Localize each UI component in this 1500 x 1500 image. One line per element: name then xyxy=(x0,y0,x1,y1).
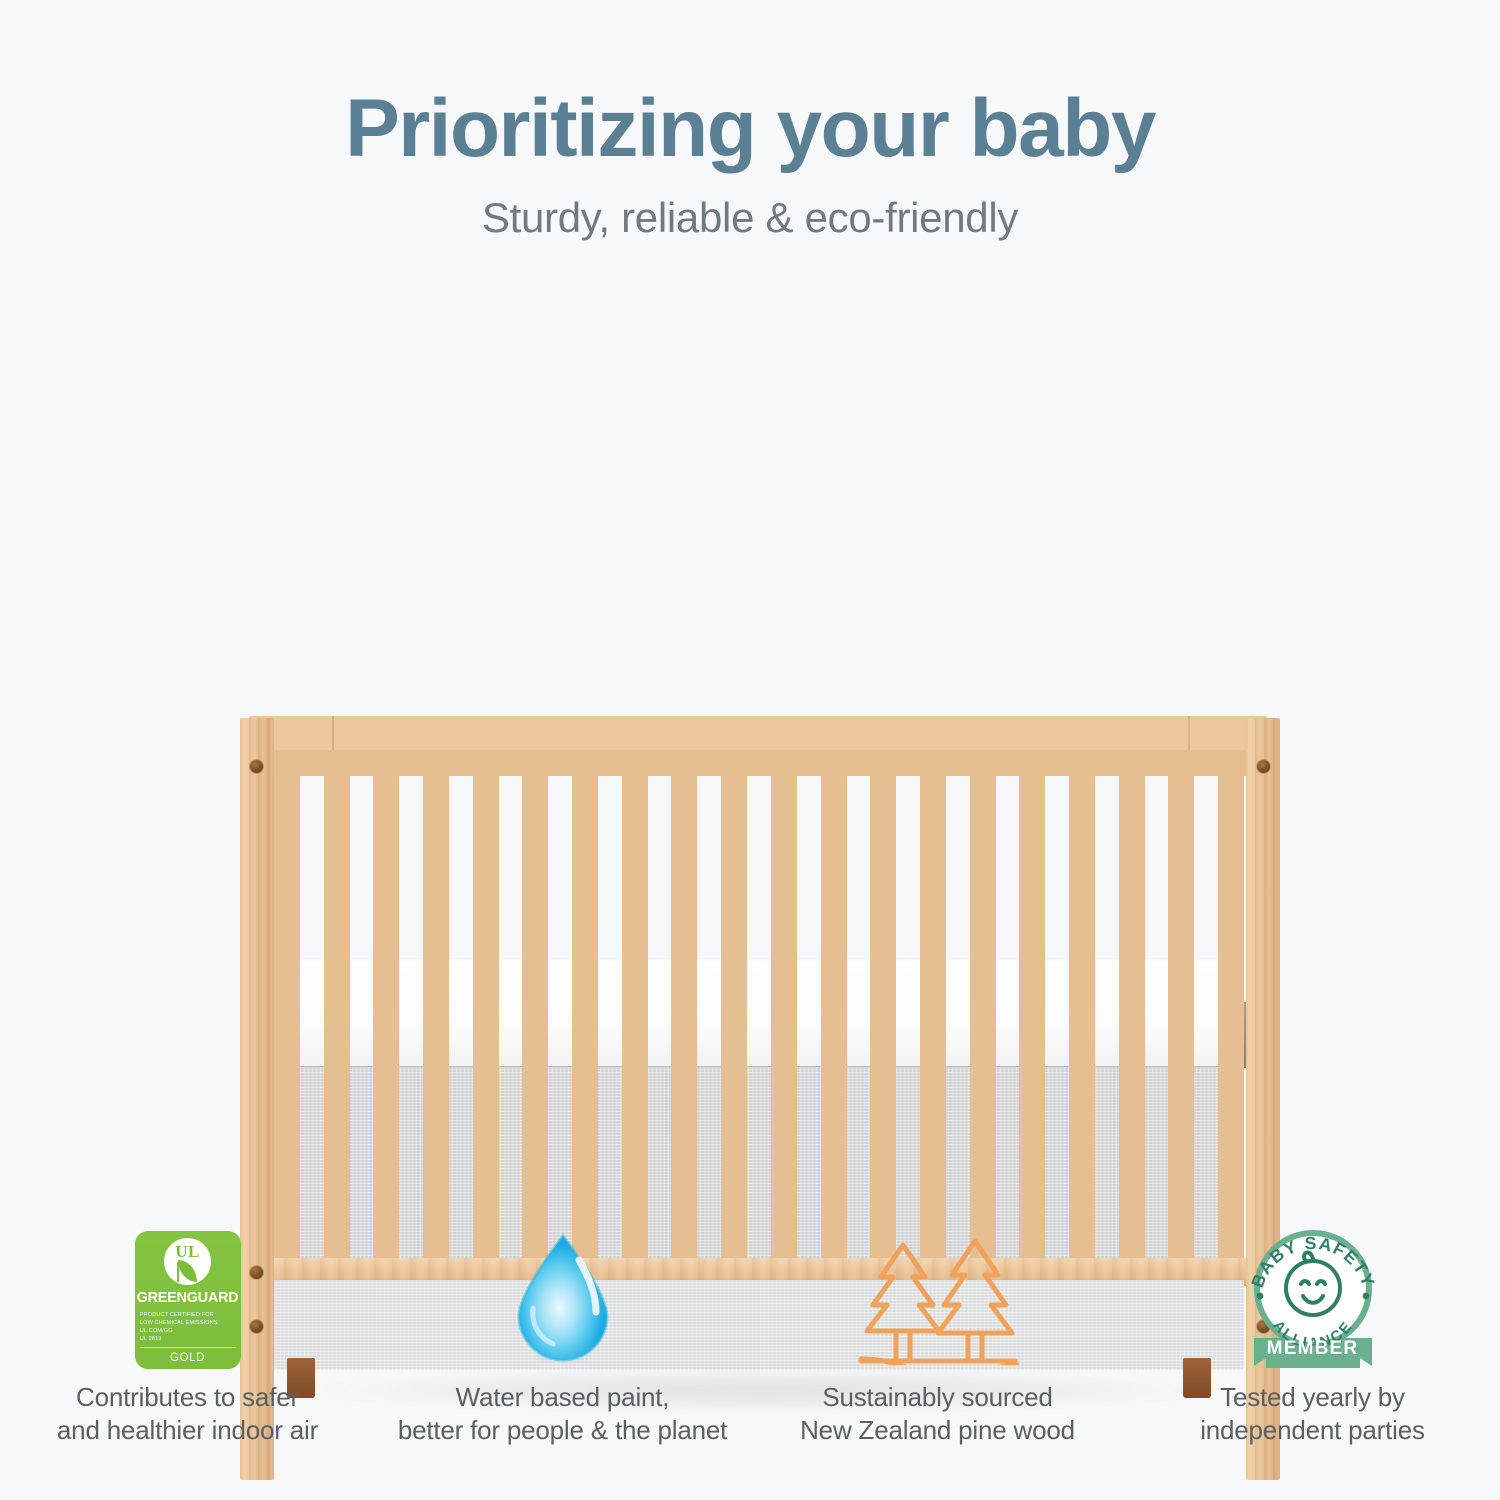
feature-independent-testing: BABY SAFETY ALLIANCE MEMBER Tested yearl… xyxy=(1125,1225,1500,1485)
feature-caption: Tested yearly by independent parties xyxy=(1200,1381,1425,1447)
crib-slat xyxy=(671,775,697,1267)
crib-slat xyxy=(572,775,598,1267)
seal-ribbon-label: MEMBER xyxy=(1238,1338,1388,1360)
crib-slat xyxy=(1218,775,1244,1267)
pine-trees-icon xyxy=(853,1225,1023,1375)
crib-slat xyxy=(522,775,548,1267)
greenguard-level: GOLD xyxy=(170,1352,205,1364)
greenguard-gold-certification-icon: UL GREENGUARD PRODUCT CERTIFIED FOR LOW … xyxy=(135,1225,241,1375)
water-drop-icon xyxy=(503,1225,623,1375)
crib-slat xyxy=(721,775,747,1267)
feature-sustainable-wood: Sustainably sourced New Zealand pine woo… xyxy=(750,1225,1125,1485)
badge-divider xyxy=(140,1347,236,1348)
feature-greenguard: UL GREENGUARD PRODUCT CERTIFIED FOR LOW … xyxy=(0,1225,375,1485)
crib-mattress xyxy=(272,958,1244,1070)
crib-slat xyxy=(274,775,300,1267)
crib-slat xyxy=(622,775,648,1267)
crib-slat xyxy=(423,775,449,1267)
crib-slat xyxy=(1069,775,1095,1267)
crib-slat xyxy=(870,775,896,1267)
rail-seam-right xyxy=(1188,716,1190,750)
crib-slat xyxy=(1119,775,1145,1267)
crib-slat xyxy=(1019,775,1045,1267)
crib-top-rail-band xyxy=(248,750,1268,776)
crib-slat xyxy=(970,775,996,1267)
feature-row: UL GREENGUARD PRODUCT CERTIFIED FOR LOW … xyxy=(0,1225,1500,1485)
crib-slat xyxy=(373,775,399,1267)
page-subtitle: Sturdy, reliable & eco-friendly xyxy=(0,194,1500,242)
rail-seam-left xyxy=(332,716,334,750)
feature-caption: Contributes to safer and healthier indoo… xyxy=(57,1381,318,1447)
crib-slat xyxy=(1168,775,1194,1267)
baby-safety-alliance-seal-icon: BABY SAFETY ALLIANCE MEMBER xyxy=(1238,1225,1388,1375)
crib-top-rail-cap xyxy=(248,716,1268,750)
crib-slat xyxy=(821,775,847,1267)
feature-water-based-paint: Water based paint, better for people & t… xyxy=(375,1225,750,1485)
product-image xyxy=(0,350,1500,1170)
crib-illustration xyxy=(0,350,1500,1170)
feature-caption: Sustainably sourced New Zealand pine woo… xyxy=(800,1381,1075,1447)
crib-slat xyxy=(473,775,499,1267)
header-block: Prioritizing your baby Sturdy, reliable … xyxy=(0,0,1500,242)
greenguard-wordmark: GREENGUARD xyxy=(137,1290,239,1306)
screw-cap-icon xyxy=(1257,760,1270,773)
crib-slat xyxy=(920,775,946,1267)
feature-caption: Water based paint, better for people & t… xyxy=(398,1381,727,1447)
crib-slat xyxy=(771,775,797,1267)
page-title: Prioritizing your baby xyxy=(0,86,1500,172)
greenguard-fine-print: PRODUCT CERTIFIED FOR LOW CHEMICAL EMISS… xyxy=(140,1311,235,1343)
screw-cap-icon xyxy=(250,760,263,773)
crib-slat xyxy=(324,775,350,1267)
ul-mark-icon: UL xyxy=(164,1238,211,1285)
